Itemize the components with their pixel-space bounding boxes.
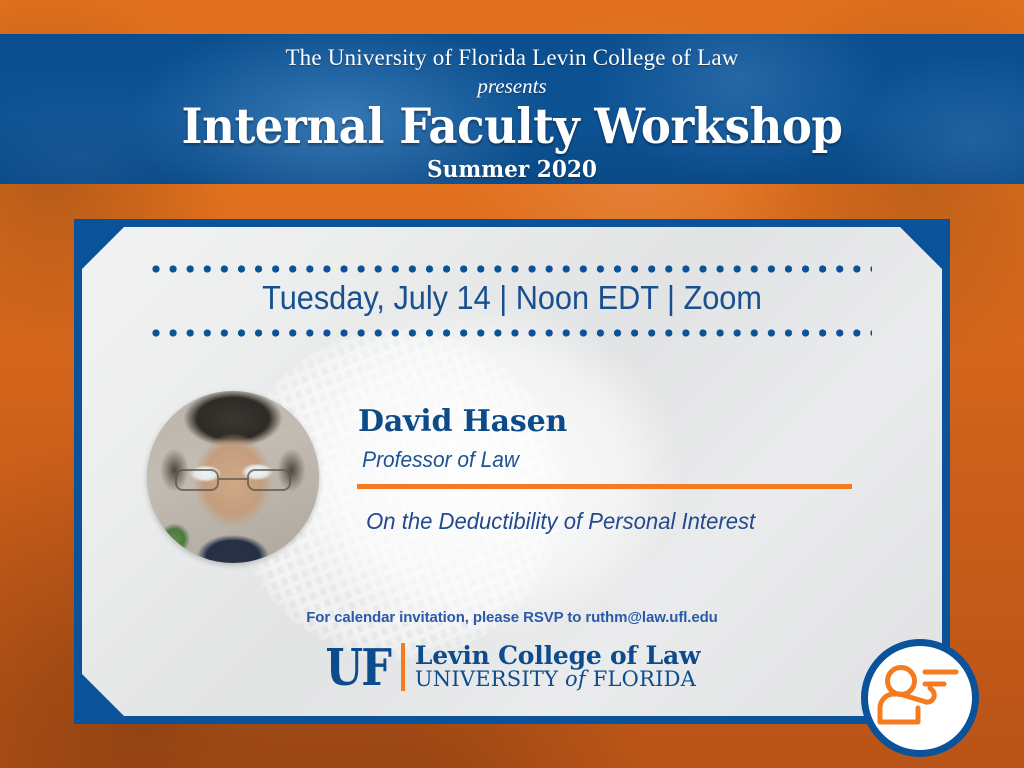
- logo-divider: [401, 643, 405, 691]
- event-datetime: Tuesday, July 14 | Noon EDT | Zoom: [105, 279, 920, 317]
- logo-florida-word: FLORIDA: [593, 667, 696, 691]
- talk-title: On the Deductibility of Personal Interes…: [366, 508, 755, 535]
- speaker-name: David Hasen: [358, 404, 567, 439]
- presents-label: presents: [0, 73, 1024, 99]
- presenter-icon: [868, 646, 972, 750]
- card-body: Tuesday, July 14 | Noon EDT | Zoom David…: [74, 219, 950, 724]
- event-flyer: The University of Florida Levin College …: [0, 0, 1024, 768]
- logo-wordmark: Levin College of Law UNIVERSITY of FLORI…: [415, 643, 700, 691]
- logo-line-university: UNIVERSITY of FLORIDA: [415, 667, 696, 691]
- orange-divider: [357, 484, 852, 489]
- eyeglasses-detail: [175, 469, 291, 491]
- logo-of-word: of: [565, 667, 586, 691]
- rsvp-note: For calendar invitation, please RSVP to …: [74, 609, 950, 626]
- dotted-divider-top: [152, 265, 872, 273]
- logo-line-college: Levin College of Law: [415, 641, 700, 670]
- uf-logo: UF Levin College of Law UNIVERSITY of FL…: [74, 643, 950, 691]
- logo-university-word: UNIVERSITY: [415, 667, 558, 691]
- institution-name: The University of Florida Levin College …: [0, 34, 1024, 73]
- season-label: Summer 2020: [31, 156, 994, 183]
- speaker-role: Professor of Law: [362, 447, 519, 473]
- presenter-badge: [861, 639, 979, 757]
- dotted-divider-bottom: [152, 329, 872, 337]
- speaker-avatar: [147, 391, 319, 563]
- page-title: Internal Faculty Workshop: [41, 101, 983, 153]
- uf-monogram: UF: [325, 642, 399, 692]
- header-banner: The University of Florida Levin College …: [0, 34, 1024, 184]
